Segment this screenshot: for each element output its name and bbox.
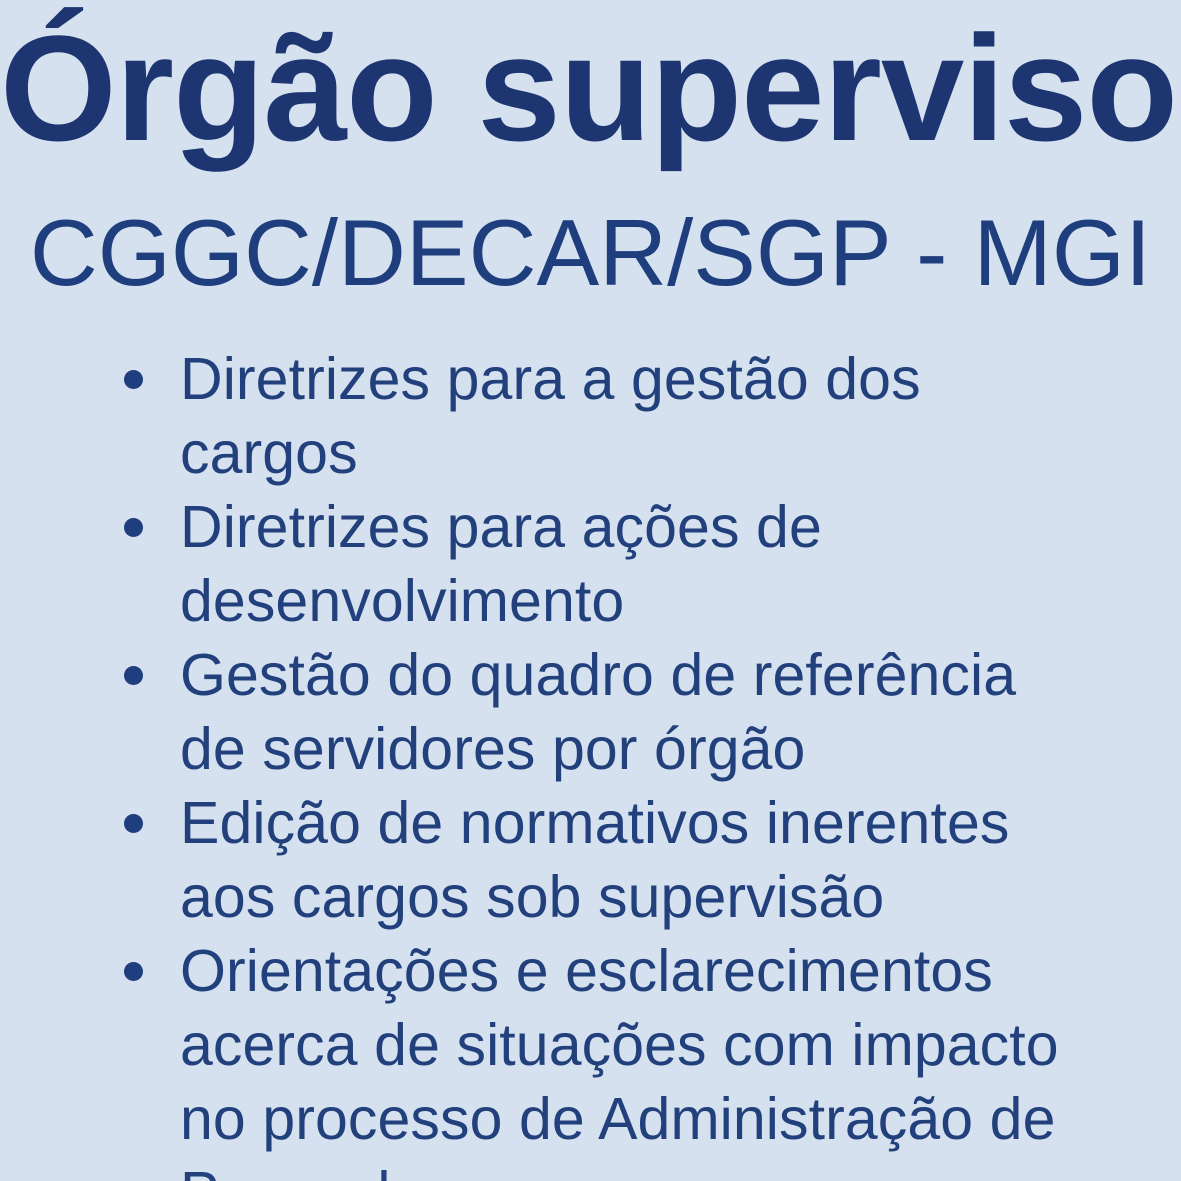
list-item: Gestão do quadro de referência de servid… [108, 638, 1094, 786]
list-item-label: Diretrizes para ações de desenvolvimento [180, 494, 822, 634]
bullet-dot-icon [124, 962, 143, 981]
list-item: Diretrizes para ações de desenvolvimento [108, 490, 1094, 638]
bullet-list: Diretrizes para a gestão dos cargos Dire… [108, 342, 1094, 1181]
bullet-dot-icon [124, 518, 143, 537]
bullet-dot-icon [124, 370, 143, 389]
list-item-label: Diretrizes para a gestão dos cargos [180, 346, 921, 486]
slide-canvas: Órgão supervisor CGGC/DECAR/SGP - MGI Di… [0, 0, 1181, 1181]
list-item: Diretrizes para a gestão dos cargos [108, 342, 1094, 490]
list-item: Orientações e esclarecimentos acerca de … [108, 934, 1094, 1181]
page-subtitle: CGGC/DECAR/SGP - MGI [0, 206, 1181, 300]
list-item-label: Gestão do quadro de referência de servid… [180, 642, 1016, 782]
page-title: Órgão supervisor [0, 4, 1181, 172]
list-item-label: Edição de normativos inerentes aos cargo… [180, 790, 1009, 930]
bullet-dot-icon [124, 814, 143, 833]
list-item: Edição de normativos inerentes aos cargo… [108, 786, 1094, 934]
list-item-label: Orientações e esclarecimentos acerca de … [180, 938, 1059, 1181]
bullet-dot-icon [124, 666, 143, 685]
